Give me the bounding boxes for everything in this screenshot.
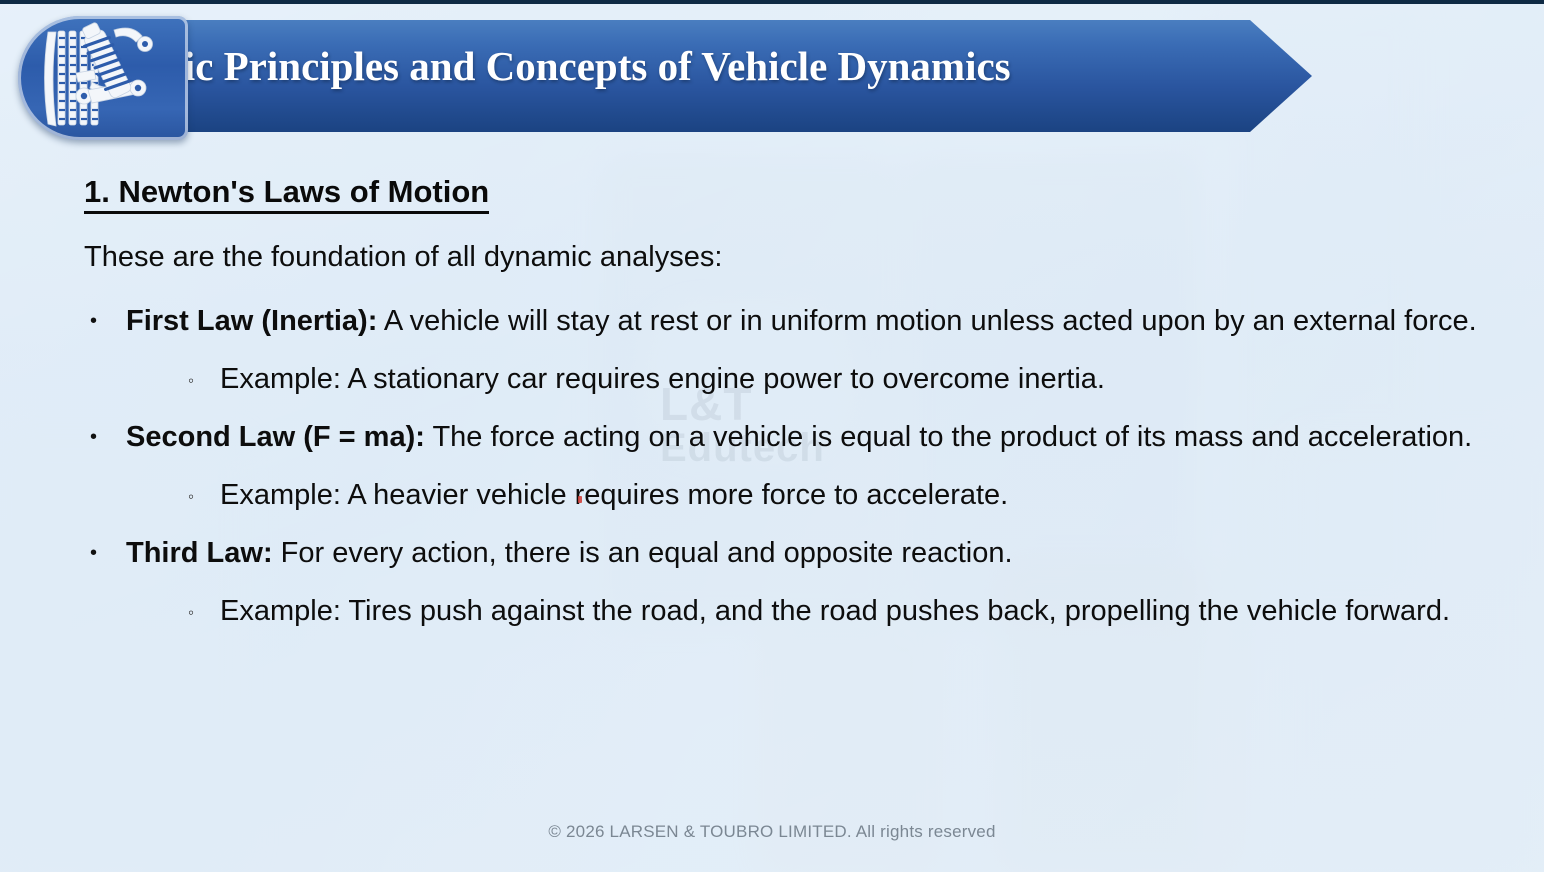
suspension-strut-tire-icon bbox=[18, 16, 188, 140]
section-heading: 1. Newton's Laws of Motion bbox=[84, 174, 489, 214]
cursor-artifact bbox=[578, 496, 582, 503]
list-item: • Second Law (F = ma): The force acting … bbox=[84, 408, 1544, 524]
example-text: Example: A stationary car requires engin… bbox=[220, 363, 1105, 395]
copyright-footer: © 2026 LARSEN & TOUBRO LIMITED. All righ… bbox=[0, 822, 1544, 842]
slide: L&T Edutech Basic Principles and Concept… bbox=[0, 0, 1544, 872]
example-list: ◦ Example: A heavier vehicle requires mo… bbox=[126, 466, 1488, 524]
law-text: For every action, there is an equal and … bbox=[273, 537, 1013, 569]
list-item: • First Law (Inertia): A vehicle will st… bbox=[84, 292, 1544, 408]
page-title: Basic Principles and Concepts of Vehicle… bbox=[120, 10, 1011, 122]
lead-paragraph: These are the foundation of all dynamic … bbox=[84, 240, 1544, 274]
law-label: First Law (Inertia): bbox=[126, 305, 377, 337]
sub-bullet-icon: ◦ bbox=[188, 582, 194, 644]
example-text: Example: Tires push against the road, an… bbox=[220, 595, 1450, 627]
law-text: The force acting on a vehicle is equal t… bbox=[425, 421, 1472, 453]
laws-list: • First Law (Inertia): A vehicle will st… bbox=[0, 292, 1544, 640]
list-item: ◦ Example: A heavier vehicle requires mo… bbox=[174, 466, 1488, 524]
example-list: ◦ Example: A stationary car requires eng… bbox=[126, 350, 1488, 408]
bullet-icon: • bbox=[90, 524, 97, 582]
sub-bullet-icon: ◦ bbox=[188, 350, 194, 412]
list-item: • Third Law: For every action, there is … bbox=[84, 524, 1544, 640]
bullet-icon: • bbox=[90, 292, 97, 350]
bullet-icon: • bbox=[90, 408, 97, 466]
list-item: ◦ Example: A stationary car requires eng… bbox=[174, 350, 1488, 408]
list-item: ◦ Example: Tires push against the road, … bbox=[174, 582, 1488, 640]
slide-header: Basic Principles and Concepts of Vehicle… bbox=[0, 10, 1340, 140]
law-label: Second Law (F = ma): bbox=[126, 421, 425, 453]
sub-bullet-icon: ◦ bbox=[188, 466, 194, 528]
slide-body: 1. Newton's Laws of Motion These are the… bbox=[0, 174, 1544, 640]
law-label: Third Law: bbox=[126, 537, 273, 569]
example-text: Example: A heavier vehicle requires more… bbox=[220, 479, 1008, 511]
law-text: A vehicle will stay at rest or in unifor… bbox=[377, 305, 1476, 337]
example-list: ◦ Example: Tires push against the road, … bbox=[126, 582, 1488, 640]
